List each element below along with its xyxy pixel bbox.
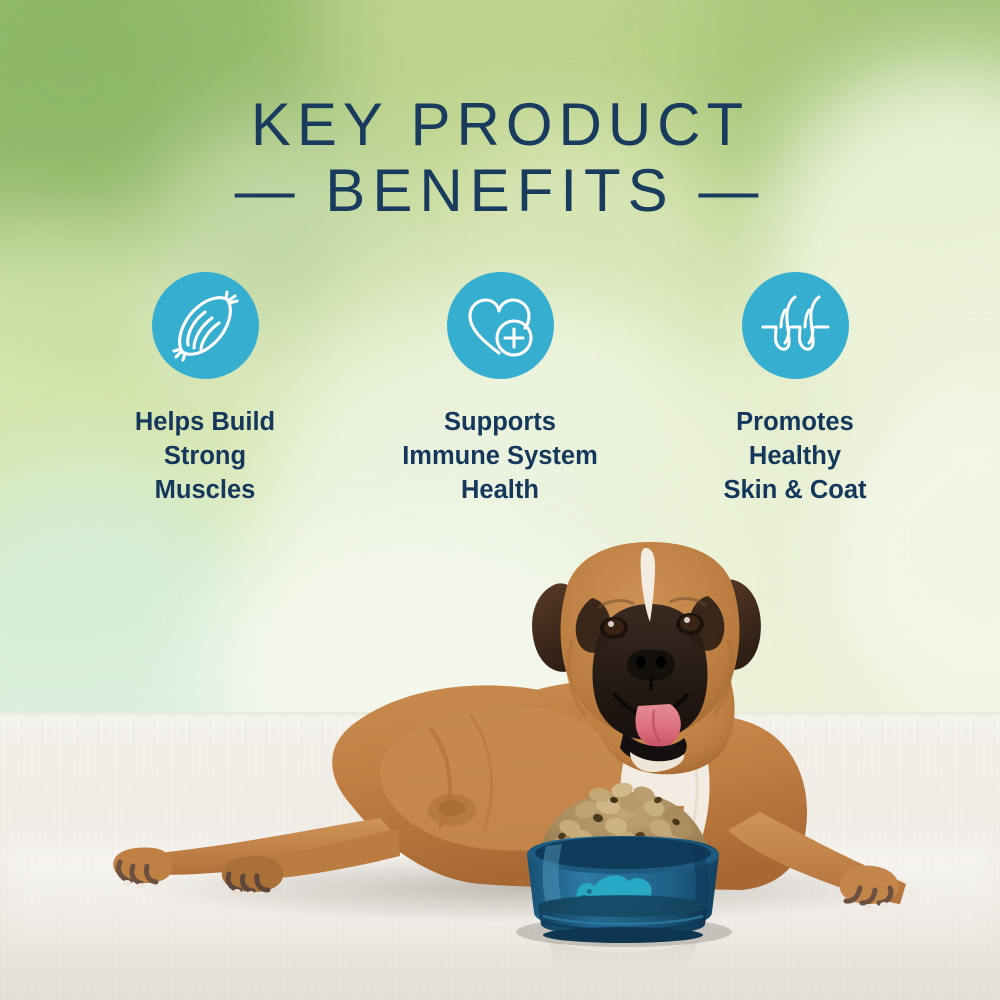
dog-photo — [0, 0, 1000, 1000]
dog-eye-left — [600, 617, 628, 639]
dog-eye-right — [676, 613, 704, 635]
product-benefits-graphic: KEY PRODUCT — BENEFITS — — [0, 0, 1000, 1000]
dog-paw-front — [840, 866, 899, 910]
